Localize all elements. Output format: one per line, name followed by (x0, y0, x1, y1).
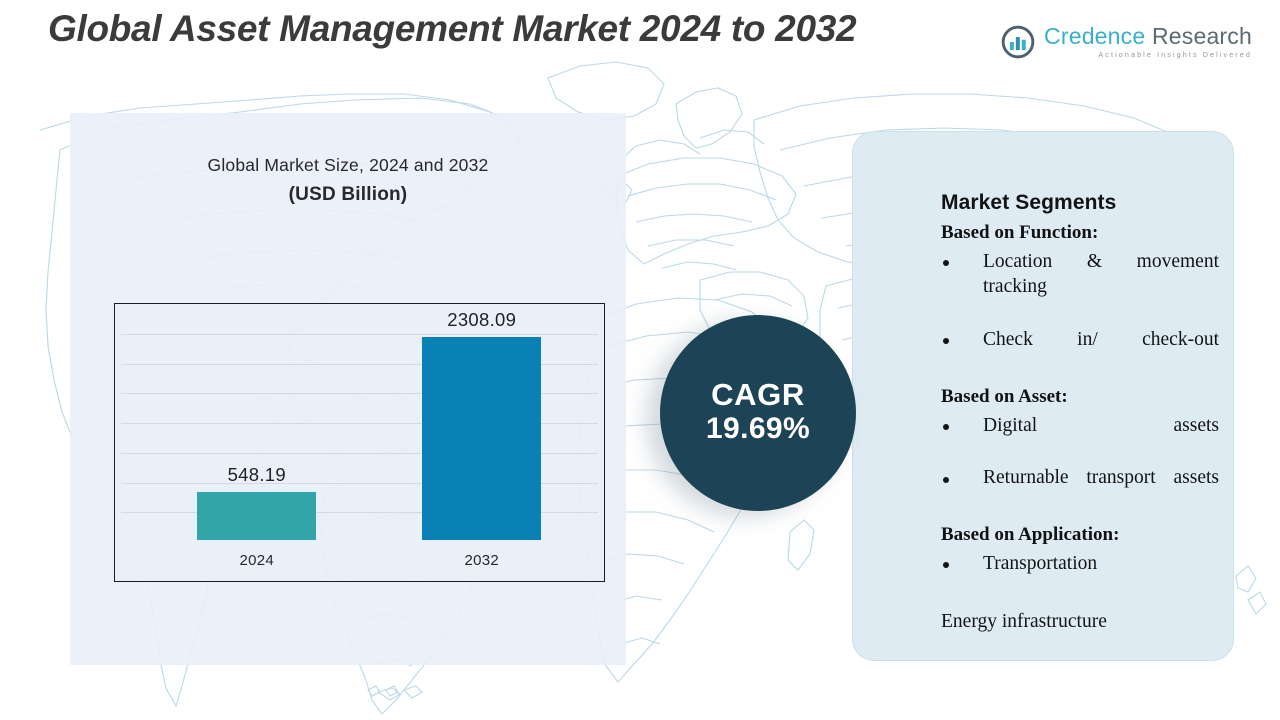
bar-value-2032: 2308.09 (379, 309, 584, 331)
bullet-icon (943, 477, 949, 483)
chart-title: Global Market Size, 2024 and 2032 (70, 155, 626, 176)
segment-trailing-text: Energy infrastructure (941, 609, 1219, 634)
bullet-icon (943, 338, 949, 344)
segment-list-item[interactable]: Digital assets (941, 414, 1219, 464)
segment-item-label: Digital assets (983, 415, 1219, 436)
brand-tagline: Actionable Insights Delivered (1044, 51, 1252, 58)
bullet-icon (943, 260, 949, 266)
category-label-2024: 2024 (154, 552, 359, 569)
chart-units-label: (USD Billion) (70, 184, 626, 206)
bar-chart-plot: 548.19 2308.09 2024 2032 (114, 303, 605, 582)
cagr-badge: CAGR 19.69% (660, 315, 856, 511)
segment-list: Transportation (941, 552, 1219, 602)
bar-slot-2024: 548.19 (154, 304, 359, 540)
segment-group-heading: Based on Asset: (941, 386, 1219, 408)
segment-item-label: Location & movement tracking (983, 251, 1219, 297)
bar-slot-2032: 2308.09 (379, 304, 584, 540)
segment-group-heading: Based on Application: (941, 524, 1219, 546)
cagr-value: 19.69% (706, 411, 810, 447)
bar-2024[interactable] (197, 492, 316, 540)
segment-list: Location & movement trackingCheck in/ ch… (941, 250, 1219, 378)
market-segments-panel: Market Segments Based on Function:Locati… (852, 131, 1234, 661)
category-label-2032: 2032 (379, 552, 584, 569)
brand-logo: Credence Research Actionable Insights De… (1000, 24, 1252, 60)
chart-heading: Global Market Size, 2024 and 2032 (USD B… (70, 155, 626, 206)
brand-name-secondary: Research (1152, 23, 1252, 49)
brand-name-primary: Credence (1044, 23, 1145, 49)
brand-wordmark: Credence Research Actionable Insights De… (1044, 25, 1252, 58)
segment-list-item[interactable]: Returnable transport assets (941, 466, 1219, 516)
bar-chart-circle-icon (1000, 24, 1036, 60)
segment-item-label: Check in/ check-out (983, 329, 1219, 350)
segment-list-item[interactable]: Transportation (941, 552, 1219, 602)
bullet-icon (943, 424, 949, 430)
bullet-icon (943, 562, 949, 568)
bar-value-2024: 548.19 (154, 464, 359, 486)
segments-title: Market Segments (941, 191, 1219, 214)
bar-2032[interactable] (422, 337, 541, 540)
segment-list: Digital assetsReturnable transport asset… (941, 414, 1219, 517)
segment-list-item[interactable]: Check in/ check-out (941, 328, 1219, 378)
segment-item-label: Returnable transport assets (983, 467, 1219, 488)
cagr-label: CAGR (711, 379, 805, 412)
segments-body: Based on Function:Location & movement tr… (941, 222, 1219, 634)
page-title: Global Asset Management Market 2024 to 2… (48, 8, 856, 50)
segment-item-label: Transportation (983, 553, 1097, 574)
segment-group-heading: Based on Function: (941, 222, 1219, 244)
chart-plot-area: 548.19 2308.09 (115, 304, 604, 540)
segment-list-item[interactable]: Location & movement tracking (941, 250, 1219, 325)
